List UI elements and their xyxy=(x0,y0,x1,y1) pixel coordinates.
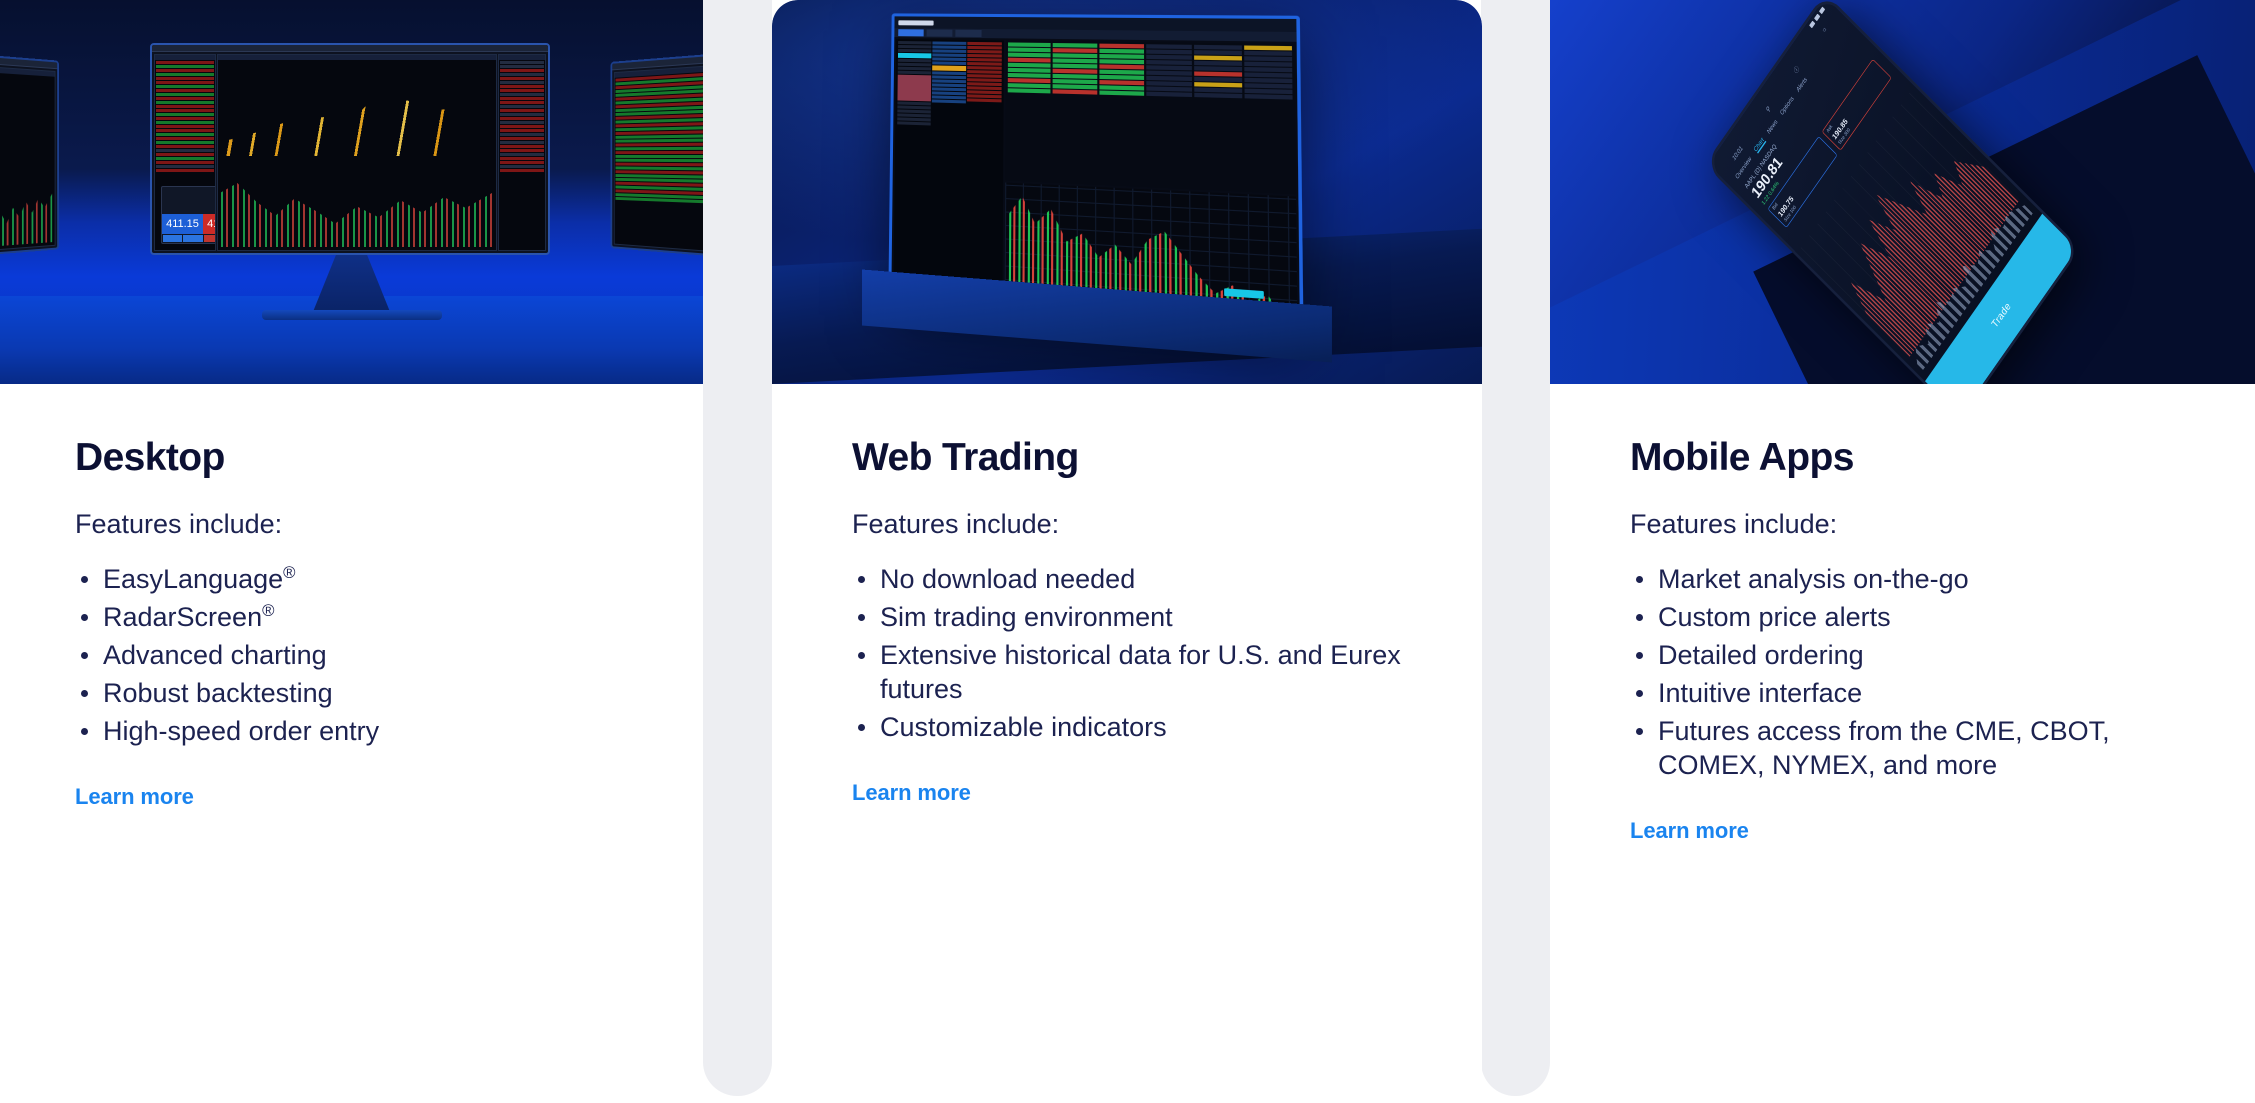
moving-average-ribbon xyxy=(221,90,493,156)
monitor-center-content: 411.15 411.16 xyxy=(152,52,548,253)
radarscreen-pane: 411.15 411.16 xyxy=(154,54,216,251)
chart-analysis-pane xyxy=(217,54,497,251)
list-item: EasyLanguage® xyxy=(75,562,643,596)
bid-column xyxy=(930,41,966,301)
page-title: Mobile Apps xyxy=(1630,438,2200,479)
wifi-icon xyxy=(1814,14,1820,22)
learn-more-link-web-trading[interactable]: Learn more xyxy=(852,780,971,806)
monitor-center: 411.15 411.16 xyxy=(150,43,550,255)
list-item: RadarScreen® xyxy=(75,600,643,634)
feature-text: No download needed xyxy=(880,564,1135,594)
pane-titlebar xyxy=(499,55,545,60)
list-item: Robust backtesting xyxy=(75,676,643,710)
monitor-base xyxy=(262,310,442,320)
list-item: Sim trading environment xyxy=(852,600,1422,634)
ask-column xyxy=(965,42,1001,305)
chart-pane xyxy=(0,65,56,253)
card-body: Web Trading Features include: No downloa… xyxy=(772,384,1482,806)
page-title: Desktop xyxy=(75,438,643,479)
feature-text: Advanced charting xyxy=(103,640,327,670)
learn-more-link-mobile-apps[interactable]: Learn more xyxy=(1630,818,1749,844)
matrix-rows xyxy=(615,71,703,252)
battery-icon xyxy=(1819,7,1825,15)
monitor-stand xyxy=(313,255,391,313)
list-item: Extensive historical data for U.S. and E… xyxy=(852,638,1422,706)
platform-card-mobile-apps[interactable]: 10:01 ⚲ ⓘ ☼ Overview Chart News Options … xyxy=(1550,0,2255,1103)
quote-grid xyxy=(1005,40,1296,194)
order-buttons xyxy=(162,234,216,243)
card-body: Desktop Features include: EasyLanguage® … xyxy=(0,384,703,810)
feature-text: Robust backtesting xyxy=(103,678,333,708)
candlestick-series xyxy=(0,173,52,248)
ask-price: 411.16 xyxy=(203,214,216,234)
feature-text: Sim trading environment xyxy=(880,602,1173,632)
learn-more-link-desktop[interactable]: Learn more xyxy=(75,784,194,810)
list-item: Detailed ordering xyxy=(1630,638,2200,672)
desktop-trading-workstation-photo: 411.15 411.16 xyxy=(0,0,703,384)
price-ladder-column xyxy=(895,41,931,299)
list-item: Intuitive interface xyxy=(1630,676,2200,710)
monitor-right xyxy=(611,52,703,259)
mobile-app-phone-photo: 10:01 ⚲ ⓘ ☼ Overview Chart News Options … xyxy=(1550,0,2255,384)
feature-text: Market analysis on-the-go xyxy=(1658,564,1969,594)
list-item: No download needed xyxy=(852,562,1422,596)
list-item: Advanced charting xyxy=(75,638,643,672)
page-title: Web Trading xyxy=(852,438,1422,479)
search-icon: ⚲ xyxy=(1764,105,1772,114)
feature-list: No download needed Sim trading environme… xyxy=(852,562,1422,744)
list-item: Futures access from the CME, CBOT, COMEX… xyxy=(1630,714,2200,782)
features-label: Features include: xyxy=(852,507,1422,542)
bell-icon: ☼ xyxy=(1820,25,1828,34)
window-titlebar xyxy=(152,45,548,52)
feature-text: Intuitive interface xyxy=(1658,678,1862,708)
trade-rows xyxy=(500,61,544,249)
monitor-right-content xyxy=(612,61,703,256)
feature-list: Market analysis on-the-go Custom price a… xyxy=(1630,562,2200,782)
add-icon: ⓘ xyxy=(1791,64,1801,75)
tradestation-logo xyxy=(898,20,933,25)
matrix-pane xyxy=(614,63,703,254)
card-body: Mobile Apps Features include: Market ana… xyxy=(1550,384,2255,844)
list-item: Custom price alerts xyxy=(1630,600,2200,634)
pane-titlebar xyxy=(0,66,55,77)
pane-titlebar xyxy=(155,55,215,60)
feature-list: EasyLanguage® RadarScreen® Advanced char… xyxy=(75,562,643,748)
feature-text: EasyLanguage xyxy=(103,564,283,594)
bid-ask-prices: 411.15 411.16 xyxy=(162,214,216,234)
platforms-section: 411.15 411.16 xyxy=(0,0,2255,1103)
web-trading-monitor-photo xyxy=(772,0,1482,384)
time-and-sales-pane xyxy=(498,54,546,251)
feature-text: RadarScreen xyxy=(103,602,262,632)
list-item: Market analysis on-the-go xyxy=(1630,562,2200,596)
list-item: High-speed order entry xyxy=(75,714,643,748)
pane-titlebar xyxy=(218,55,496,60)
list-item: Customizable indicators xyxy=(852,710,1422,744)
candlestick-series xyxy=(221,169,493,247)
registered-mark: ® xyxy=(262,601,274,620)
feature-text: Custom price alerts xyxy=(1658,602,1891,632)
registered-mark: ® xyxy=(283,563,295,582)
feature-text: Extensive historical data for U.S. and E… xyxy=(880,640,1401,704)
matrix-depth-panel xyxy=(893,39,1004,307)
feature-text: Detailed ordering xyxy=(1658,640,1864,670)
monitor-left xyxy=(0,53,59,257)
features-label: Features include: xyxy=(75,507,643,542)
order-entry-widget: 411.15 411.16 xyxy=(161,186,216,244)
bid-price: 411.15 xyxy=(162,214,203,234)
card-gutter-2 xyxy=(1481,0,1550,1096)
card-gutter-1 xyxy=(703,0,772,1096)
platform-card-desktop[interactable]: 411.15 411.16 xyxy=(0,0,703,1103)
monitor-left-content xyxy=(0,63,57,255)
platform-card-web-trading[interactable]: Web Trading Features include: No downloa… xyxy=(772,0,1482,1103)
signal-icon xyxy=(1809,21,1815,29)
feature-text: High-speed order entry xyxy=(103,716,379,746)
features-label: Features include: xyxy=(1630,507,2200,542)
feature-text: Futures access from the CME, CBOT, COMEX… xyxy=(1658,716,2110,780)
feature-text: Customizable indicators xyxy=(880,712,1167,742)
